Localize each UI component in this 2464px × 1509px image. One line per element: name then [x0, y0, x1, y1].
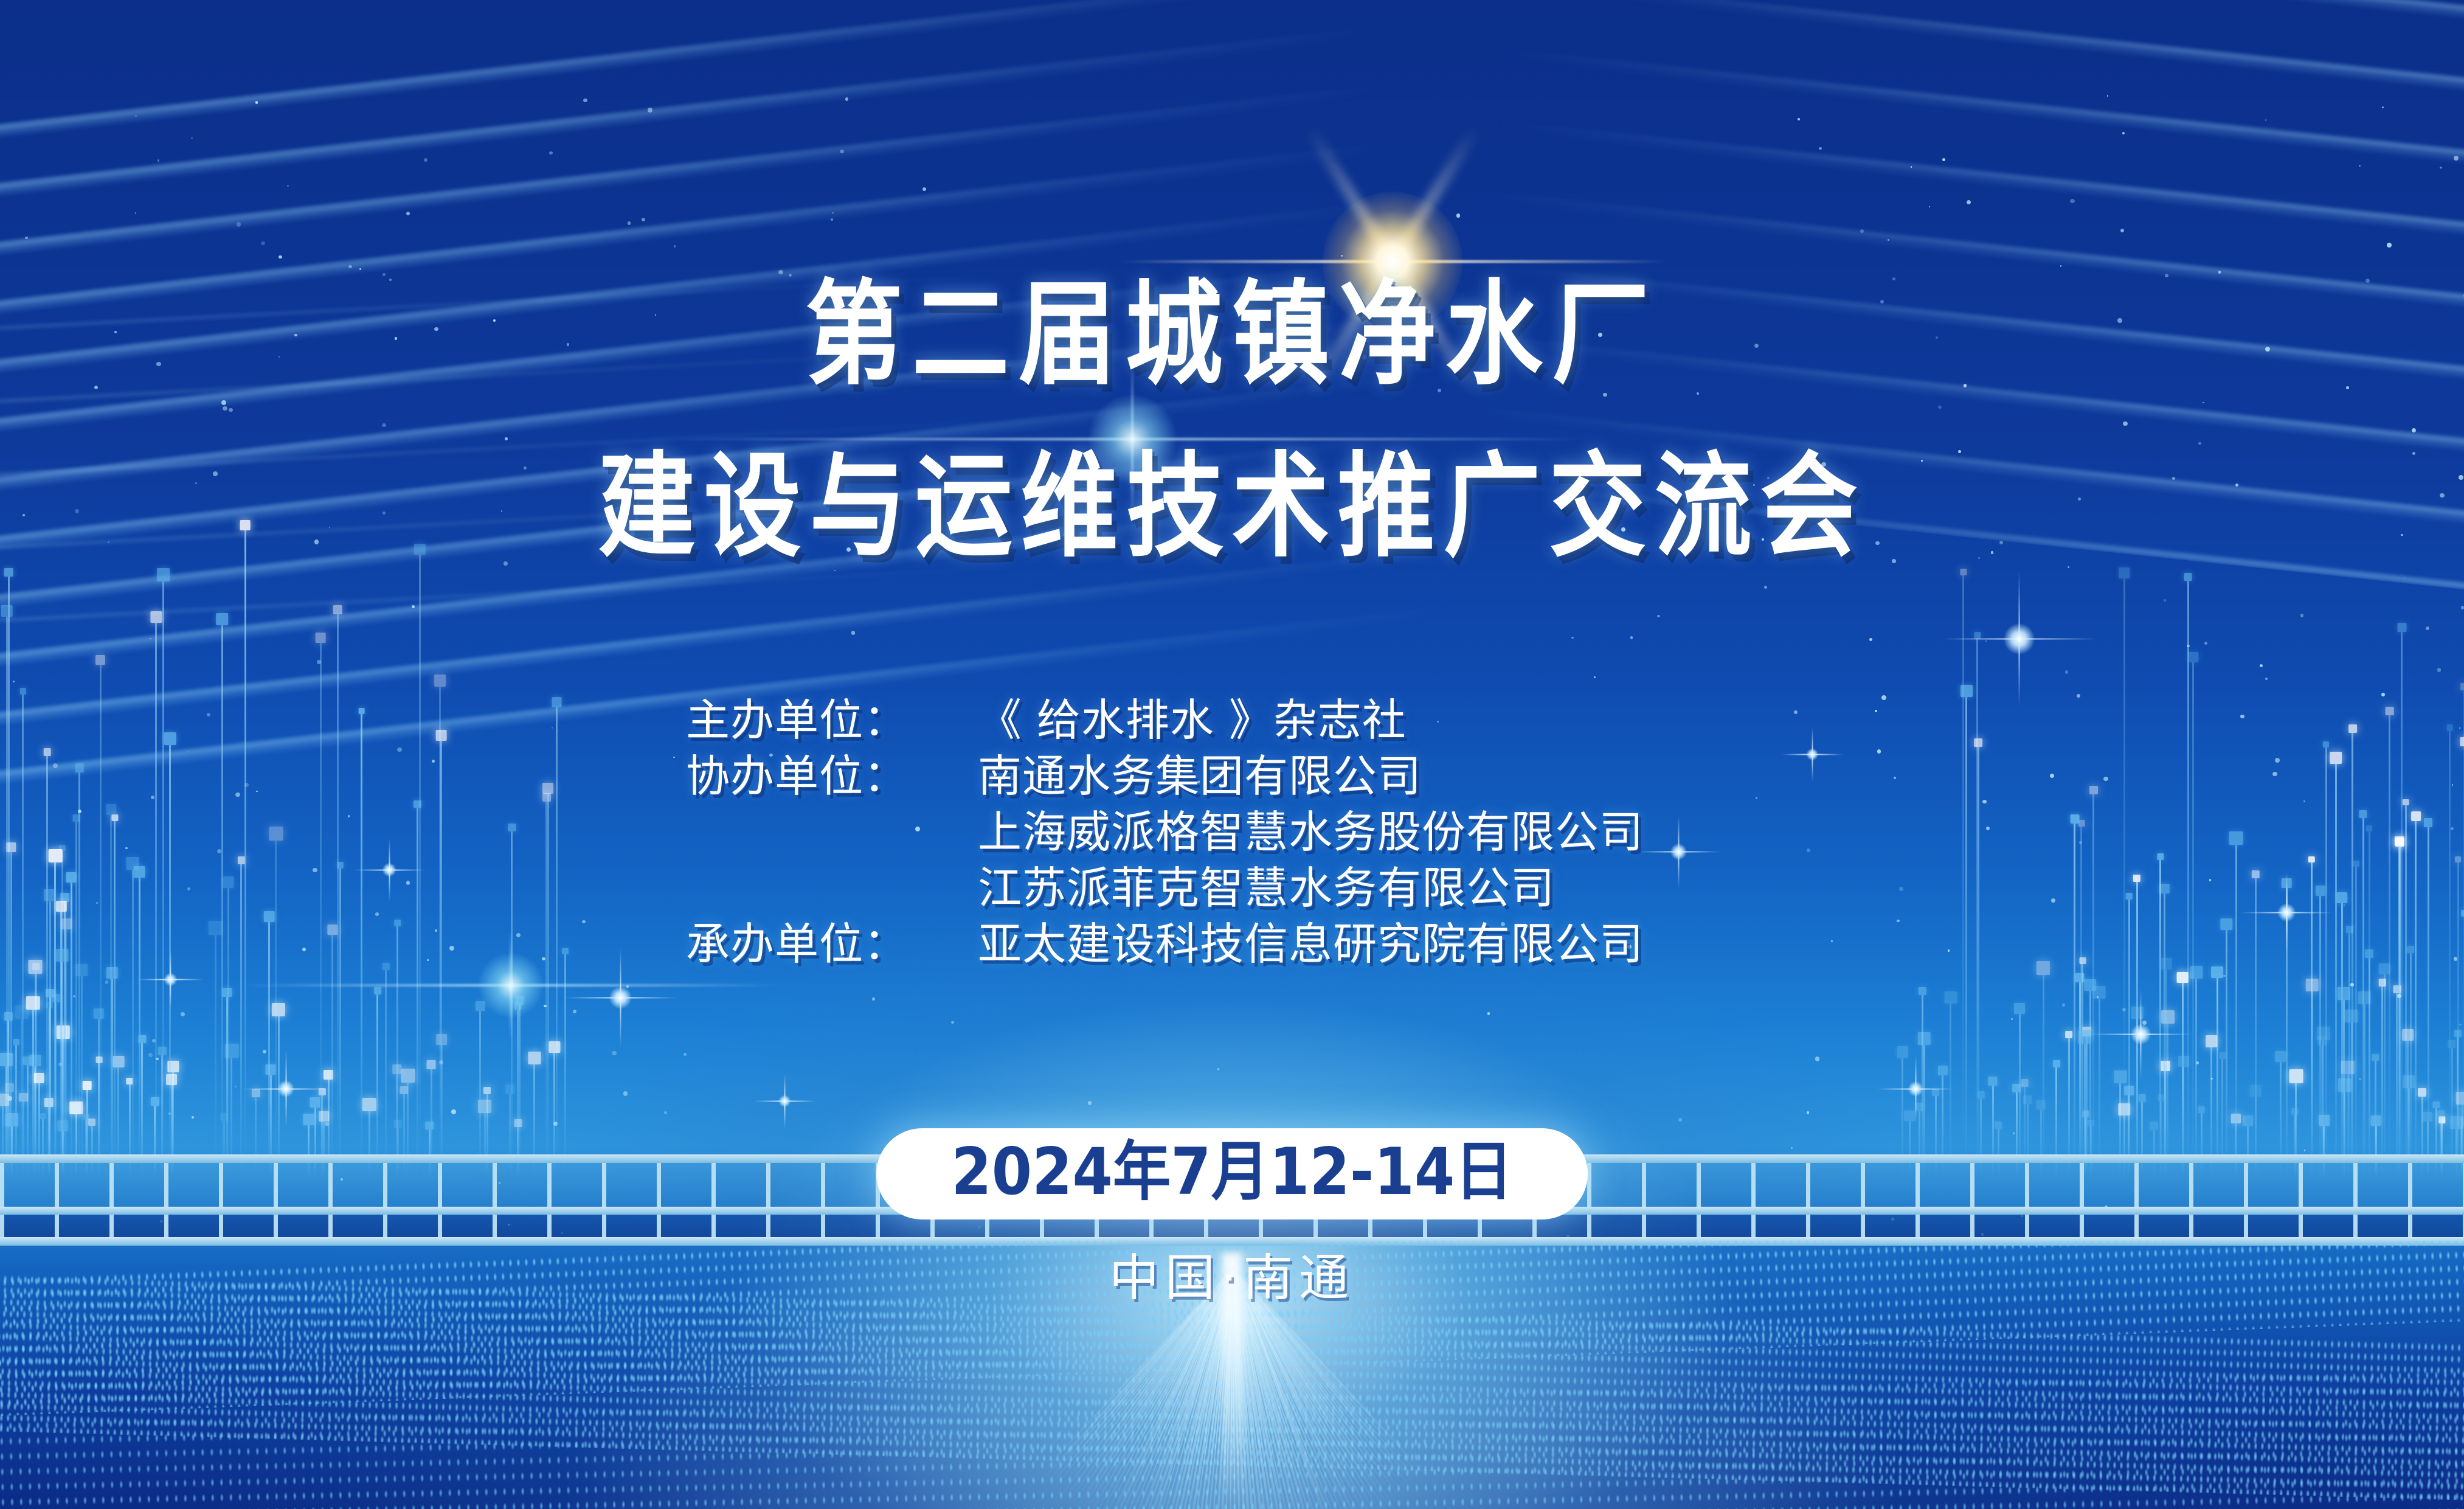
organizer-value: 亚太建设科技信息研究院有限公司	[978, 916, 1644, 972]
poster-content: 第二届城镇净水厂 建设与运维技术推广交流会 主办单位： 《 给水排水 》杂志社 …	[0, 0, 2464, 1509]
organizer-value: 上海威派格智慧水务股份有限公司	[978, 804, 1644, 860]
organizer-value: 《 给水排水 》杂志社	[978, 692, 1407, 748]
organizer-list: 主办单位： 《 给水排水 》杂志社 协办单位： 南通水务集团有限公司 上海威派格…	[686, 692, 1644, 972]
location-label: 中国·南通	[1109, 1247, 1355, 1310]
title-line-1: 第二届城镇净水厂	[173, 275, 2292, 394]
poster-title: 第二届城镇净水厂 建设与运维技术推广交流会	[0, 275, 2464, 566]
date-badge: 2024年7月12-14日	[876, 1128, 1588, 1219]
title-line-2: 建设与运维技术推广交流会	[173, 447, 2292, 566]
organizer-row: 承办单位： 亚太建设科技信息研究院有限公司	[686, 916, 1644, 972]
organizer-label: 协办单位：	[686, 748, 978, 804]
organizer-label: 主办单位：	[686, 692, 978, 748]
organizer-row: 江苏派菲克智慧水务有限公司	[686, 860, 1644, 916]
organizer-row: 上海威派格智慧水务股份有限公司	[686, 804, 1644, 860]
organizer-value: 南通水务集团有限公司	[978, 748, 1422, 804]
organizer-row: 主办单位： 《 给水排水 》杂志社	[686, 692, 1644, 748]
date-badge-label: 2024年7月12-14日	[951, 1138, 1512, 1206]
conference-poster: 第二届城镇净水厂 建设与运维技术推广交流会 主办单位： 《 给水排水 》杂志社 …	[0, 0, 2464, 1509]
organizer-row: 协办单位： 南通水务集团有限公司	[686, 748, 1644, 804]
organizer-value: 江苏派菲克智慧水务有限公司	[978, 860, 1555, 916]
organizer-label: 承办单位：	[686, 916, 978, 972]
